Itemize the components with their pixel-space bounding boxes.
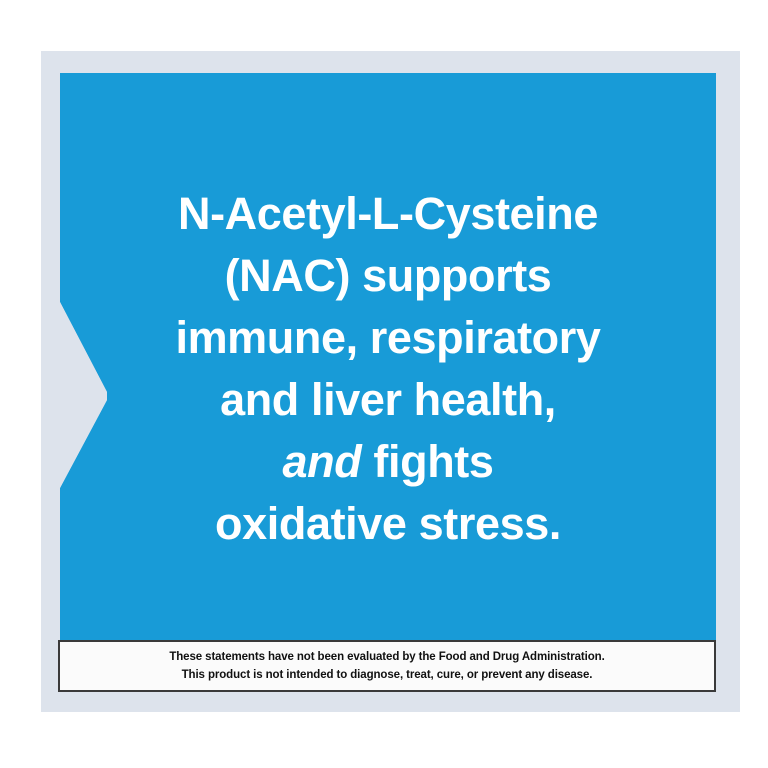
disclaimer-line-1: These statements have not been evaluated… [169,648,604,666]
headline-line-5-rest: fights [373,436,493,487]
headline-line-6: oxidative stress. [60,493,716,555]
headline-line-2: (NAC) supports [60,245,716,307]
headline-line-1: N-Acetyl-L-Cysteine [60,183,716,245]
disclaimer-line-2: This product is not intended to diagnose… [182,666,593,684]
product-claim-card: N-Acetyl-L-Cysteine (NAC) supports immun… [0,0,768,768]
headline-line-3: immune, respiratory [60,307,716,369]
fda-disclaimer-box: These statements have not been evaluated… [58,640,716,692]
headline-line-4: and liver health, [60,369,716,431]
headline-text: N-Acetyl-L-Cysteine (NAC) supports immun… [60,183,716,555]
headline-line-5: and fights [60,431,716,493]
headline-emphasis-word: and [283,436,362,487]
